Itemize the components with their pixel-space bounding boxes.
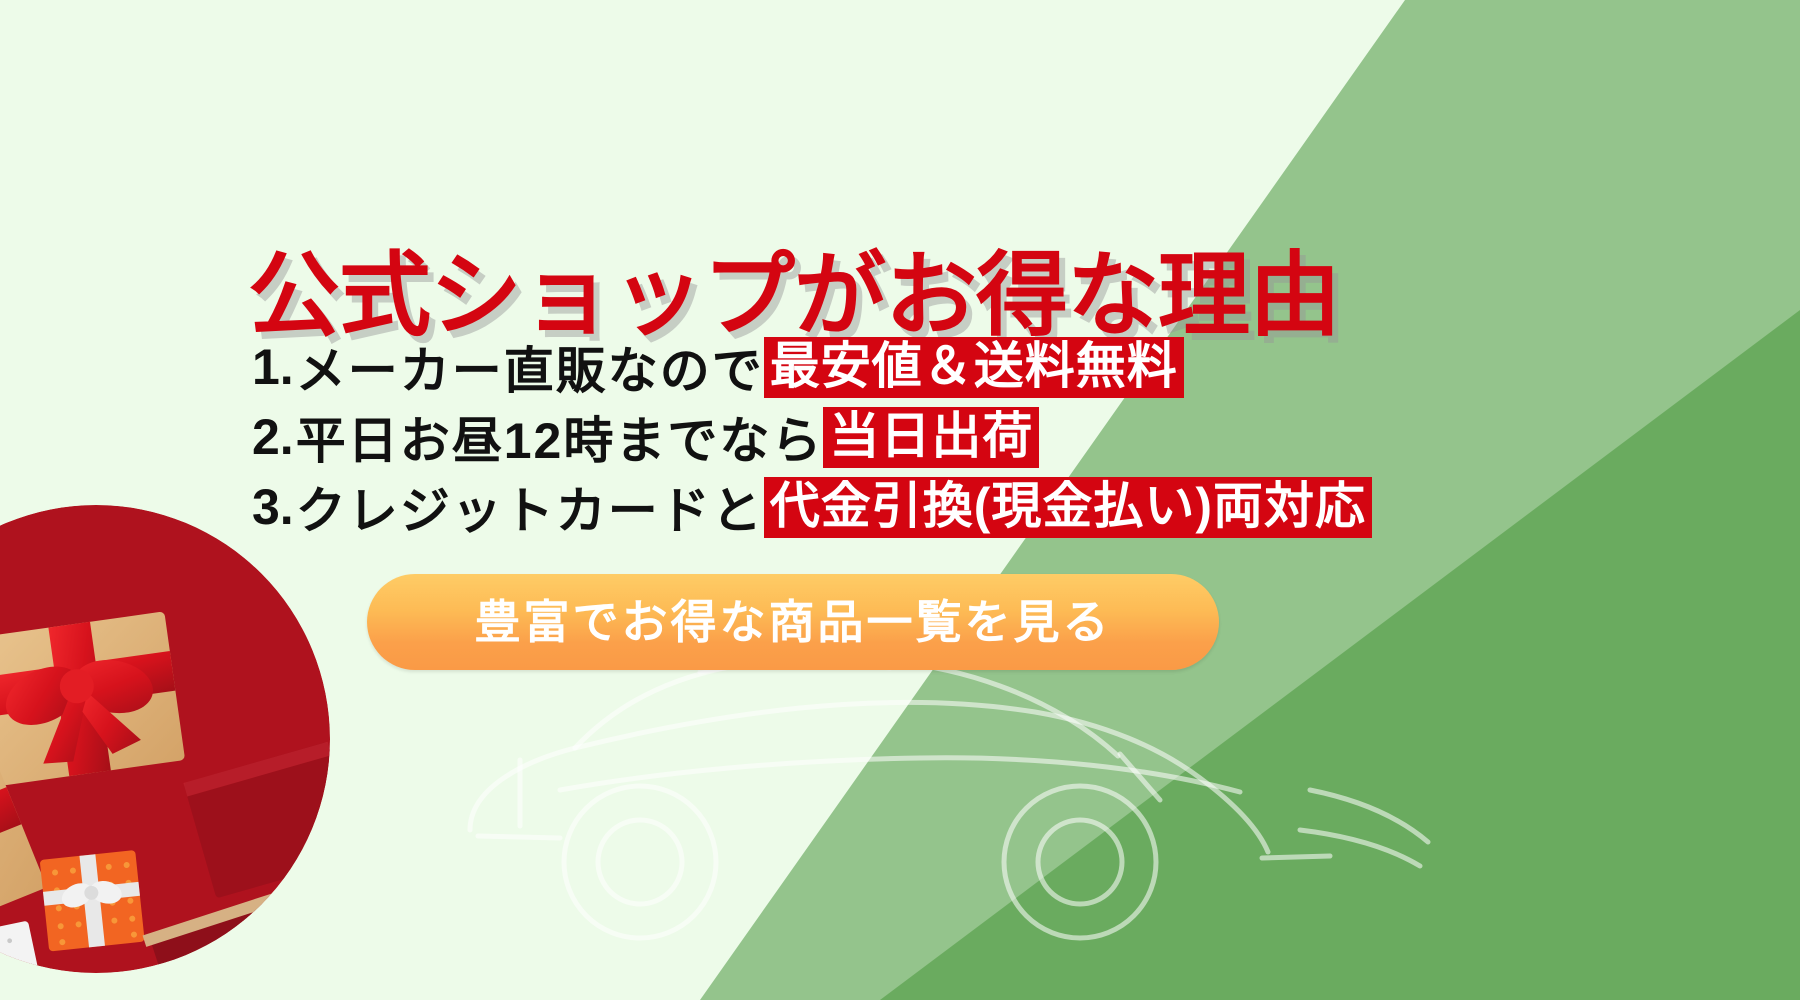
view-products-button-label: 豊富でお得な商品一覧を見る [475, 599, 1112, 645]
reason-text-1: メーカー直販なので [296, 331, 764, 403]
reason-text-2: 平日お昼12時までなら [296, 401, 824, 473]
reason-number-3: 3. [252, 478, 294, 536]
view-products-button[interactable]: 豊富でお得な商品一覧を見る [367, 574, 1219, 670]
reason-item-1: 1. メーカー直販なので 最安値＆送料無料 [252, 332, 1552, 402]
reasons-list: 1. メーカー直販なので 最安値＆送料無料 2. 平日お昼12時までなら 当日出… [252, 332, 1552, 542]
reason-highlight-3: 代金引換(現金払い)両対応 [764, 477, 1372, 538]
page-title: 公式ショップがお得な理由 [248, 248, 1348, 345]
reason-text-3: クレジットカードと [296, 471, 764, 543]
reason-number-1: 1. [252, 338, 294, 396]
reason-number-2: 2. [252, 408, 294, 466]
promo-banner: 公式ショップがお得な理由 1. メーカー直販なので 最安値＆送料無料 2. 平日… [0, 0, 1800, 1000]
reason-item-3: 3. クレジットカードと 代金引換(現金払い)両対応 [252, 472, 1552, 542]
reason-highlight-1: 最安値＆送料無料 [764, 337, 1184, 398]
reason-highlight-2: 当日出荷 [823, 407, 1039, 468]
reason-item-2: 2. 平日お昼12時までなら 当日出荷 [252, 402, 1552, 472]
